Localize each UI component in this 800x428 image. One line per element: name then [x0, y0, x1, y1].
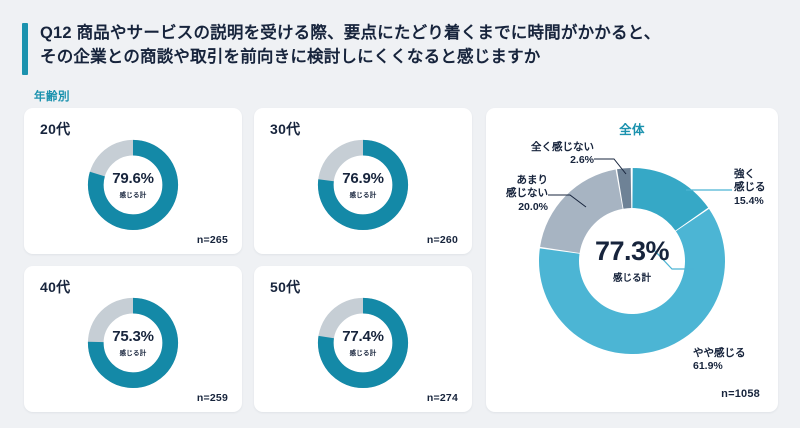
- callout-notmuch-value: 20.0%: [518, 201, 548, 213]
- callout-somewhat-value: 61.9%: [693, 360, 723, 372]
- callout-somewhat-name: やや感じる: [693, 347, 746, 359]
- title-line-2: その企業との商談や取引を前向きに検討しにくくなると感じますか: [40, 46, 660, 70]
- title-line-1: Q12 商品やサービスの説明を受ける際、要点にたどり着くまでに時間がかかると、: [40, 22, 660, 46]
- sample-size: n=259: [197, 392, 228, 404]
- card-title: 50代: [270, 277, 300, 297]
- title-accent-bar: [22, 23, 28, 75]
- overall-card: 全体 77.3% 感じる計 強く 感じる 15.4% やや感じる 61.9% あ…: [486, 108, 778, 412]
- donut-chart-40s: 75.3% 感じる計: [84, 294, 182, 392]
- callout-notatall-value: 2.6%: [570, 154, 594, 166]
- callout-strong: 強く 感じる 15.4%: [734, 168, 766, 208]
- callout-somewhat: やや感じる 61.9%: [693, 347, 746, 374]
- donut-svg: [84, 294, 182, 392]
- page-title: Q12 商品やサービスの説明を受ける際、要点にたどり着くまでに時間がかかると、 …: [22, 22, 782, 75]
- donut-svg: [314, 136, 412, 234]
- callout-notmuch-name-2: 感じない: [506, 187, 548, 199]
- title-text: Q12 商品やサービスの説明を受ける際、要点にたどり着くまでに時間がかかると、 …: [40, 22, 660, 70]
- age-card-50s: 50代 77.4% 感じる計 n=274: [254, 266, 472, 412]
- card-title: 20代: [40, 119, 70, 139]
- callout-strong-value: 15.4%: [734, 195, 764, 207]
- age-card-20s: 20代 79.6% 感じる計 n=265: [24, 108, 242, 254]
- card-title: 30代: [270, 119, 300, 139]
- donut-svg: [84, 136, 182, 234]
- card-title: 40代: [40, 277, 70, 297]
- sample-size: n=260: [427, 234, 458, 246]
- donut-svg: [314, 294, 412, 392]
- callout-notatall: 全く感じない 2.6%: [492, 141, 594, 168]
- overall-donut-chart: 77.3% 感じる計 強く 感じる 15.4% やや感じる 61.9% あまり …: [486, 132, 778, 390]
- callout-notatall-name: 全く感じない: [531, 141, 594, 153]
- sample-size: n=265: [197, 234, 228, 246]
- age-card-30s: 30代 76.9% 感じる計 n=260: [254, 108, 472, 254]
- donut-segment-3: [540, 169, 623, 252]
- callout-notmuch-name-1: あまり: [517, 174, 549, 186]
- donut-segment-group: [539, 168, 725, 354]
- donut-chart-50s: 77.4% 感じる計: [314, 294, 412, 392]
- age-card-40s: 40代 75.3% 感じる計 n=259: [24, 266, 242, 412]
- age-card-grid: 20代 79.6% 感じる計 n=265 30代 76.9% 感じる計 n: [24, 108, 472, 412]
- callout-strong-name-1: 強く: [734, 168, 755, 180]
- overall-sample-size: n=1058: [721, 388, 760, 400]
- donut-chart-30s: 76.9% 感じる計: [314, 136, 412, 234]
- section-label-age: 年齢別: [34, 88, 70, 104]
- donut-chart-20s: 79.6% 感じる計: [84, 136, 182, 234]
- sample-size: n=274: [427, 392, 458, 404]
- callout-notmuch: あまり 感じない 20.0%: [464, 174, 548, 214]
- callout-strong-name-2: 感じる: [734, 181, 766, 193]
